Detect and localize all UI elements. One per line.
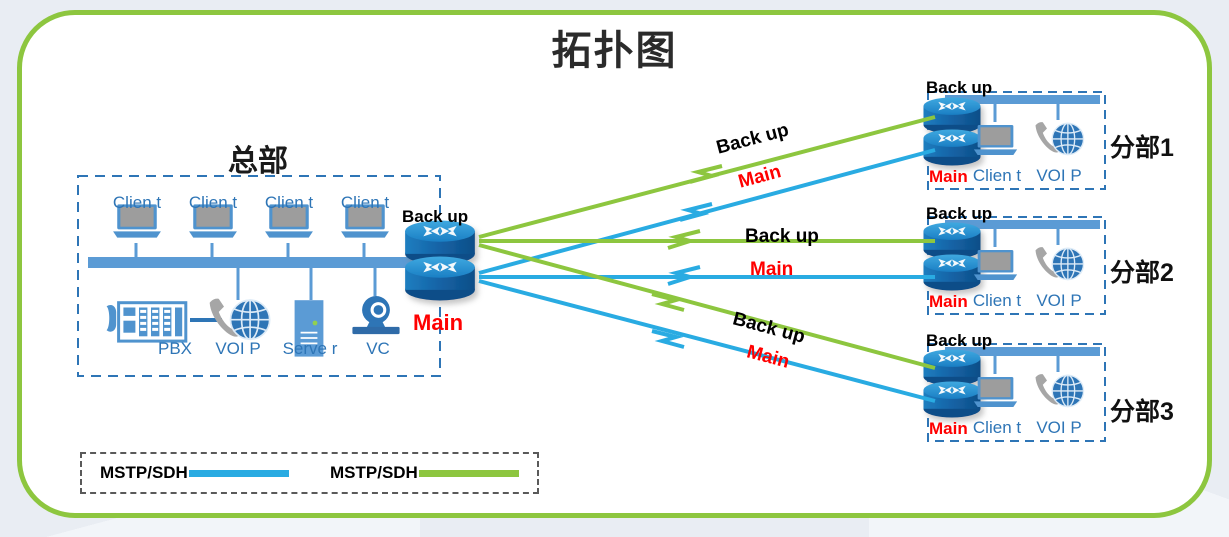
diagram-stage: 拓扑图 总部 Clien t Clien t Clien t Clien t P… [0,0,1229,537]
hq-client-drops [136,243,364,258]
hq-voip-label: VOI P [208,339,268,358]
hq-router-backup-label: Back up [402,207,468,227]
branch-3-drops [995,356,1058,374]
branch-1-client-label: Clien t [971,166,1023,185]
hq-client-2-label: Clien t [183,193,243,212]
branch-2-voip-label: VOI P [1033,291,1085,310]
branch-2-backup-label: Back up [926,204,992,224]
hq-bus-bar [88,257,440,268]
legend-item-2-swatch [419,470,519,477]
legend-item-1-label: MSTP/SDH [100,463,188,483]
legend: MSTP/SDH MSTP/SDH [80,452,539,494]
branch-1-voip[interactable] [1036,122,1084,155]
link-main-branch-2-label: Main [750,259,793,281]
link-backup-branch-3 [479,245,935,368]
hq-router-main[interactable] [405,257,475,301]
branch-1-backup-label: Back up [926,78,992,98]
legend-item-1[interactable]: MSTP/SDH [100,463,289,483]
branch-2-drops [995,229,1058,247]
link-backup-branch-3-arrow [652,294,684,310]
hq-router-main-label: Main [413,310,463,336]
branch-2-voip[interactable] [1036,247,1084,280]
legend-item-1-swatch [189,470,289,477]
hq-vc-label: VC [350,339,406,358]
branch-1-voip-label: VOI P [1033,166,1085,185]
hq-client-3-label: Clien t [259,193,319,212]
branch-3-main-label: Main [929,419,968,439]
branch-2-main-label: Main [929,292,968,312]
legend-item-2[interactable]: MSTP/SDH [330,463,519,483]
hq-pbx-label: PBX [140,339,210,358]
branch-3-title: 分部3 [1110,392,1174,428]
branch-3-laptop[interactable] [974,377,1017,407]
hq-vc[interactable] [352,296,399,334]
branch-3-voip-label: VOI P [1033,418,1085,437]
page-title: 拓扑图 [0,18,1229,76]
branch-2-client-label: Clien t [971,291,1023,310]
link-main-branch-3 [479,281,935,401]
legend-item-2-label: MSTP/SDH [330,463,418,483]
branch-1-title: 分部1 [1110,128,1174,164]
branch-2-laptop[interactable] [974,250,1017,280]
branch-2-title: 分部2 [1110,253,1174,289]
branch-3-backup-label: Back up [926,331,992,351]
hq-server-label: Serve r [278,339,342,358]
hq-client-1-label: Clien t [107,193,167,212]
hq-title: 总部 [228,136,288,180]
branch-3-client-label: Clien t [971,418,1023,437]
hq-pbx[interactable] [107,303,186,341]
link-backup-branch-2-label: Back up [745,226,819,248]
branch-3-voip[interactable] [1036,374,1084,407]
branch-1-main-label: Main [929,167,968,187]
hq-voip[interactable] [210,299,270,340]
branch-1-router-backup[interactable] [923,98,980,134]
branch-2-router-main[interactable] [923,255,980,291]
hq-device-drops [238,267,375,300]
hq-client-4-label: Clien t [335,193,395,212]
branch-1-router-main[interactable] [923,130,980,166]
branch-1-laptop[interactable] [974,125,1017,155]
branch-1-drops [995,104,1058,122]
